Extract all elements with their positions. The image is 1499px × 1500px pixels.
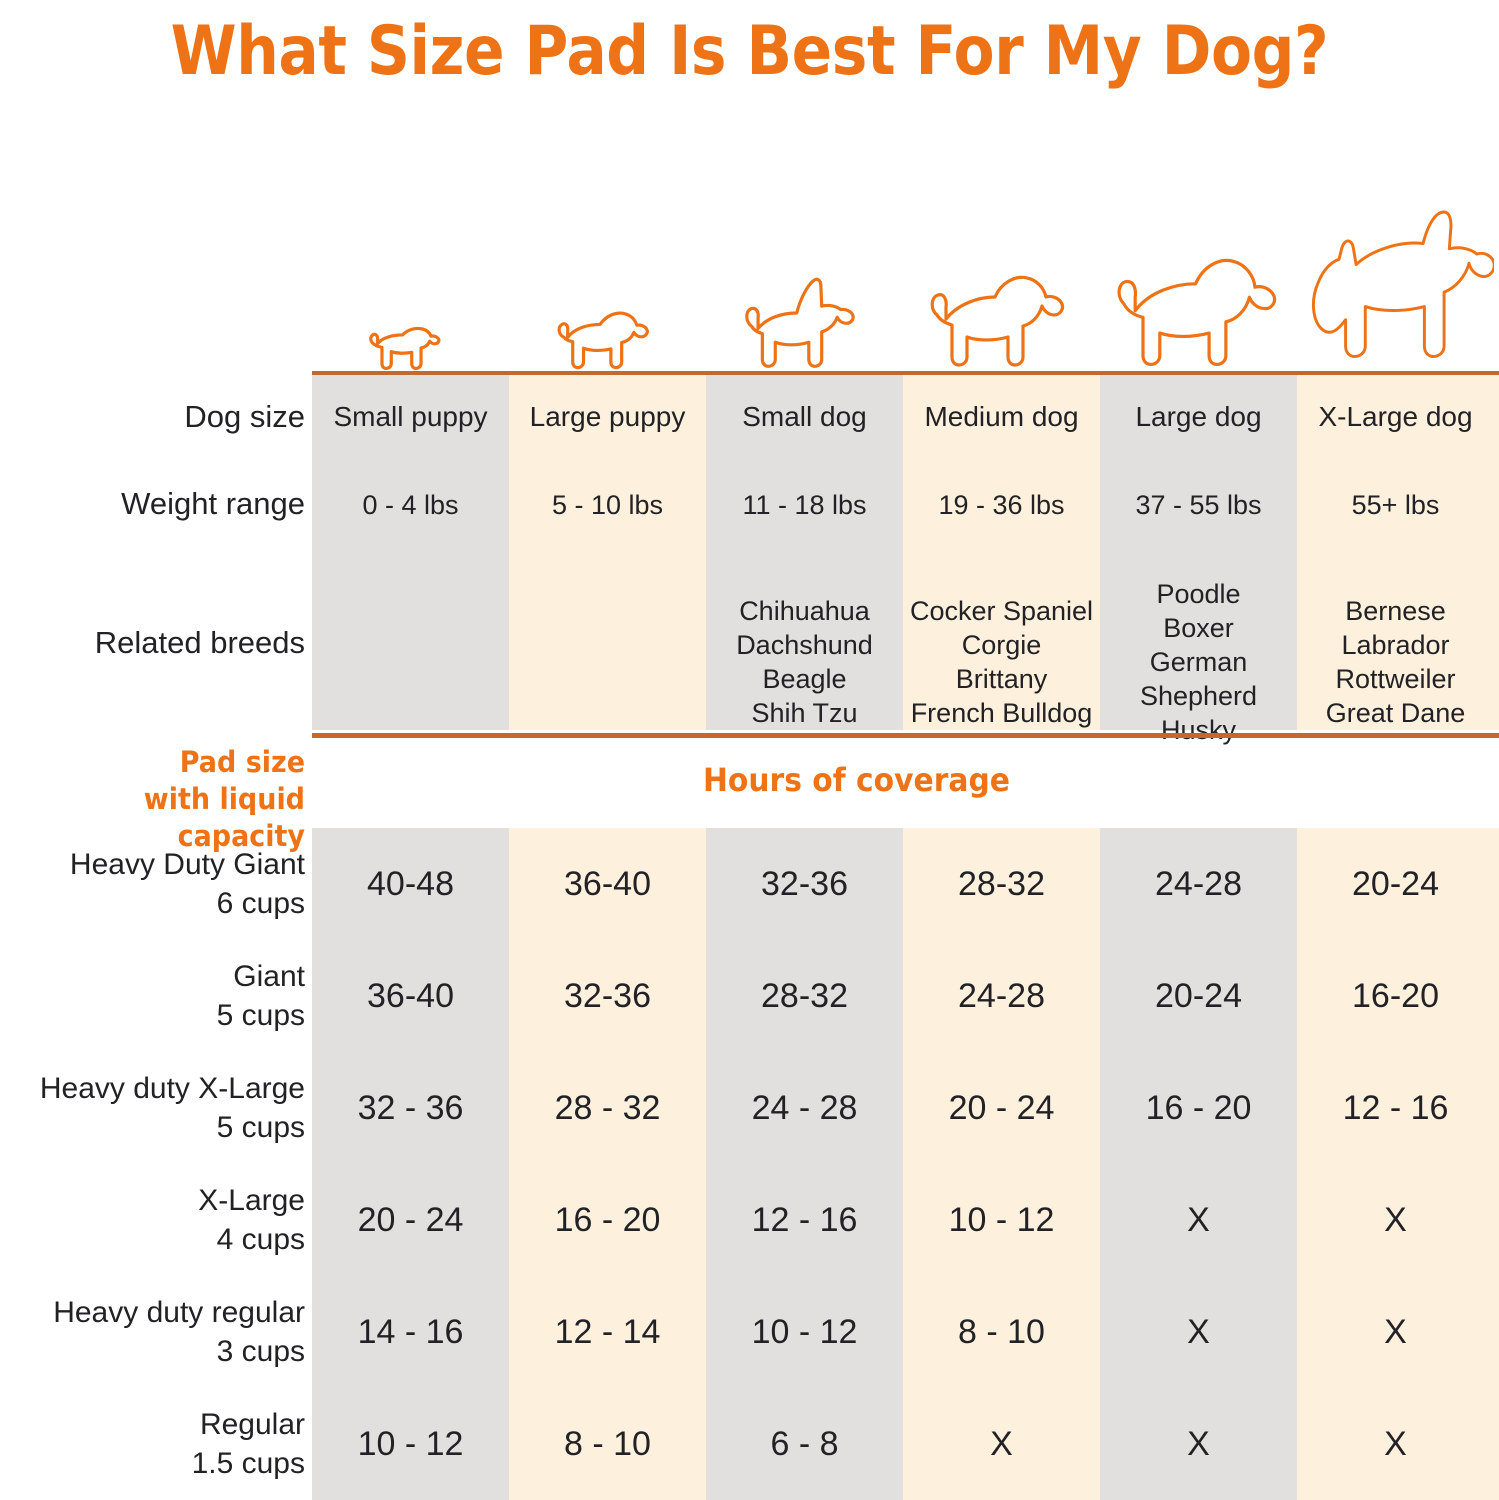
baseline-rule bbox=[312, 371, 1499, 375]
coverage-cell-r3-c3: 24 - 28 bbox=[706, 1088, 903, 1128]
breed-item: Chihuahua bbox=[706, 594, 903, 628]
dog-small-icon bbox=[740, 270, 869, 373]
coverage-cell-r1-c6: 20-24 bbox=[1297, 864, 1494, 904]
weight-range-value-6: 55+ lbs bbox=[1297, 488, 1494, 522]
pad-size-row-label-5: Heavy duty regular3 cups bbox=[0, 1293, 305, 1371]
coverage-cell-r5-c1: 14 - 16 bbox=[312, 1312, 509, 1352]
coverage-cell-r2-c4: 24-28 bbox=[903, 976, 1100, 1016]
breed-item: Great Dane bbox=[1297, 696, 1494, 730]
dog-large-icon bbox=[1115, 239, 1283, 373]
coverage-column-band-1 bbox=[312, 828, 509, 1500]
breed-item: Labrador bbox=[1297, 628, 1494, 662]
breed-item: Bernese bbox=[1297, 594, 1494, 628]
breed-item: Shih Tzu bbox=[706, 696, 903, 730]
page-title: What Size Pad Is Best For My Dog? bbox=[90, 4, 1409, 100]
dog-xlarge-icon bbox=[1297, 203, 1494, 373]
related-breeds-value-4: Cocker SpanielCorgieBrittanyFrench Bulld… bbox=[903, 594, 1100, 730]
coverage-cell-r2-c1: 36-40 bbox=[312, 976, 509, 1016]
pad-size-capacity: 4 cups bbox=[0, 1220, 305, 1259]
pad-size-name: Giant bbox=[0, 957, 305, 996]
pad-size-capacity: 3 cups bbox=[0, 1332, 305, 1371]
dog-size-value-5: Large dog bbox=[1100, 400, 1297, 434]
coverage-cell-r5-c4: 8 - 10 bbox=[903, 1312, 1100, 1352]
weight-range-value-4: 19 - 36 lbs bbox=[903, 488, 1100, 522]
coverage-cell-r6-c1: 10 - 12 bbox=[312, 1424, 509, 1464]
coverage-cell-r5-c6: X bbox=[1297, 1312, 1494, 1352]
coverage-cell-r6-c5: X bbox=[1100, 1424, 1297, 1464]
dog-size-value-3: Small dog bbox=[706, 400, 903, 434]
pad-size-caption-line2: with liquid capacity bbox=[144, 782, 305, 853]
dog-silhouette-strip bbox=[312, 165, 1499, 373]
breed-item: Dachshund bbox=[706, 628, 903, 662]
dog-illustration-6 bbox=[1297, 203, 1494, 373]
dog-illustration-3 bbox=[706, 270, 903, 373]
breed-item: Shepherd bbox=[1100, 679, 1297, 713]
breed-item: Rottweiler bbox=[1297, 662, 1494, 696]
dog-medium-icon bbox=[927, 253, 1077, 373]
coverage-cell-r5-c5: X bbox=[1100, 1312, 1297, 1352]
coverage-cell-r4-c4: 10 - 12 bbox=[903, 1200, 1100, 1240]
row-label-related-breeds: Related breeds bbox=[0, 623, 305, 663]
coverage-cell-r3-c1: 32 - 36 bbox=[312, 1088, 509, 1128]
dog-illustration-4 bbox=[903, 253, 1100, 373]
pad-size-name: Regular bbox=[0, 1405, 305, 1444]
coverage-cell-r1-c5: 24-28 bbox=[1100, 864, 1297, 904]
row-label-dog-size: Dog size bbox=[0, 397, 305, 437]
breed-item: Poodle bbox=[1100, 577, 1297, 611]
weight-range-value-5: 37 - 55 lbs bbox=[1100, 488, 1297, 522]
coverage-column-band-5 bbox=[1100, 828, 1297, 1500]
coverage-cell-r1-c1: 40-48 bbox=[312, 864, 509, 904]
coverage-column-band-6 bbox=[1297, 828, 1499, 1500]
breed-item: Brittany bbox=[903, 662, 1100, 696]
coverage-cell-r3-c5: 16 - 20 bbox=[1100, 1088, 1297, 1128]
breed-item: Boxer bbox=[1100, 611, 1297, 645]
pad-size-name: Heavy duty regular bbox=[0, 1293, 305, 1332]
coverage-column-band-3 bbox=[706, 828, 903, 1500]
dog-size-value-1: Small puppy bbox=[312, 400, 509, 434]
section-divider-rule bbox=[312, 733, 1499, 738]
coverage-cell-r4-c5: X bbox=[1100, 1200, 1297, 1240]
dog-size-value-6: X-Large dog bbox=[1297, 400, 1494, 434]
puppy-small-icon bbox=[364, 299, 457, 373]
coverage-cell-r1-c4: 28-32 bbox=[903, 864, 1100, 904]
pad-size-capacity: 5 cups bbox=[0, 1108, 305, 1147]
pad-size-caption: Pad size with liquid capacity bbox=[21, 744, 305, 855]
coverage-cell-r1-c3: 32-36 bbox=[706, 864, 903, 904]
weight-range-value-2: 5 - 10 lbs bbox=[509, 488, 706, 522]
coverage-cell-r6-c3: 6 - 8 bbox=[706, 1424, 903, 1464]
pad-size-name: Heavy duty X-Large bbox=[0, 1069, 305, 1108]
dog-size-value-4: Medium dog bbox=[903, 400, 1100, 434]
coverage-cell-r6-c2: 8 - 10 bbox=[509, 1424, 706, 1464]
related-breeds-value-3: ChihuahuaDachshundBeagleShih Tzu bbox=[706, 594, 903, 730]
breed-item: Husky bbox=[1100, 713, 1297, 747]
weight-range-value-1: 0 - 4 lbs bbox=[312, 488, 509, 522]
breed-item: Corgie bbox=[903, 628, 1100, 662]
coverage-cell-r3-c4: 20 - 24 bbox=[903, 1088, 1100, 1128]
coverage-cell-r4-c1: 20 - 24 bbox=[312, 1200, 509, 1240]
dog-illustration-1 bbox=[312, 299, 509, 373]
coverage-cell-r2-c2: 32-36 bbox=[509, 976, 706, 1016]
coverage-cell-r4-c2: 16 - 20 bbox=[509, 1200, 706, 1240]
pad-size-row-label-2: Giant5 cups bbox=[0, 957, 305, 1035]
pad-size-name: Heavy Duty Giant bbox=[0, 845, 305, 884]
coverage-column-band-4 bbox=[903, 828, 1100, 1500]
coverage-cell-r5-c3: 10 - 12 bbox=[706, 1312, 903, 1352]
pad-size-row-label-1: Heavy Duty Giant6 cups bbox=[0, 845, 305, 923]
dog-size-value-2: Large puppy bbox=[509, 400, 706, 434]
pad-size-row-label-6: Regular1.5 cups bbox=[0, 1405, 305, 1483]
pad-size-capacity: 5 cups bbox=[0, 996, 305, 1035]
coverage-cell-r2-c3: 28-32 bbox=[706, 976, 903, 1016]
coverage-cell-r6-c4: X bbox=[903, 1424, 1100, 1464]
coverage-cell-r2-c5: 20-24 bbox=[1100, 976, 1297, 1016]
breed-item: Cocker Spaniel bbox=[903, 594, 1100, 628]
coverage-cell-r3-c2: 28 - 32 bbox=[509, 1088, 706, 1128]
dog-illustration-5 bbox=[1100, 239, 1297, 373]
related-breeds-value-6: BerneseLabradorRottweilerGreat Dane bbox=[1297, 594, 1494, 730]
hours-of-coverage-caption: Hours of coverage bbox=[703, 760, 1010, 800]
dog-illustration-2 bbox=[509, 287, 706, 373]
coverage-cell-r5-c2: 12 - 14 bbox=[509, 1312, 706, 1352]
coverage-cell-r4-c3: 12 - 16 bbox=[706, 1200, 903, 1240]
breed-item: French Bulldog bbox=[903, 696, 1100, 730]
coverage-cell-r1-c2: 36-40 bbox=[509, 864, 706, 904]
pad-size-row-label-3: Heavy duty X-Large5 cups bbox=[0, 1069, 305, 1147]
pad-size-row-label-4: X-Large4 cups bbox=[0, 1181, 305, 1259]
coverage-cell-r2-c6: 16-20 bbox=[1297, 976, 1494, 1016]
puppy-large-icon bbox=[554, 287, 662, 373]
related-breeds-value-5: PoodleBoxerGermanShepherdHusky bbox=[1100, 577, 1297, 747]
weight-range-value-3: 11 - 18 lbs bbox=[706, 488, 903, 522]
coverage-cell-r3-c6: 12 - 16 bbox=[1297, 1088, 1494, 1128]
pad-size-caption-line1: Pad size bbox=[180, 745, 305, 779]
breed-item: Beagle bbox=[706, 662, 903, 696]
coverage-column-band-2 bbox=[509, 828, 706, 1500]
pad-size-capacity: 6 cups bbox=[0, 884, 305, 923]
pad-size-name: X-Large bbox=[0, 1181, 305, 1220]
breed-item: German bbox=[1100, 645, 1297, 679]
coverage-cell-r4-c6: X bbox=[1297, 1200, 1494, 1240]
coverage-cell-r6-c6: X bbox=[1297, 1424, 1494, 1464]
row-label-weight-range: Weight range bbox=[0, 484, 305, 524]
pad-size-capacity: 1.5 cups bbox=[0, 1444, 305, 1483]
